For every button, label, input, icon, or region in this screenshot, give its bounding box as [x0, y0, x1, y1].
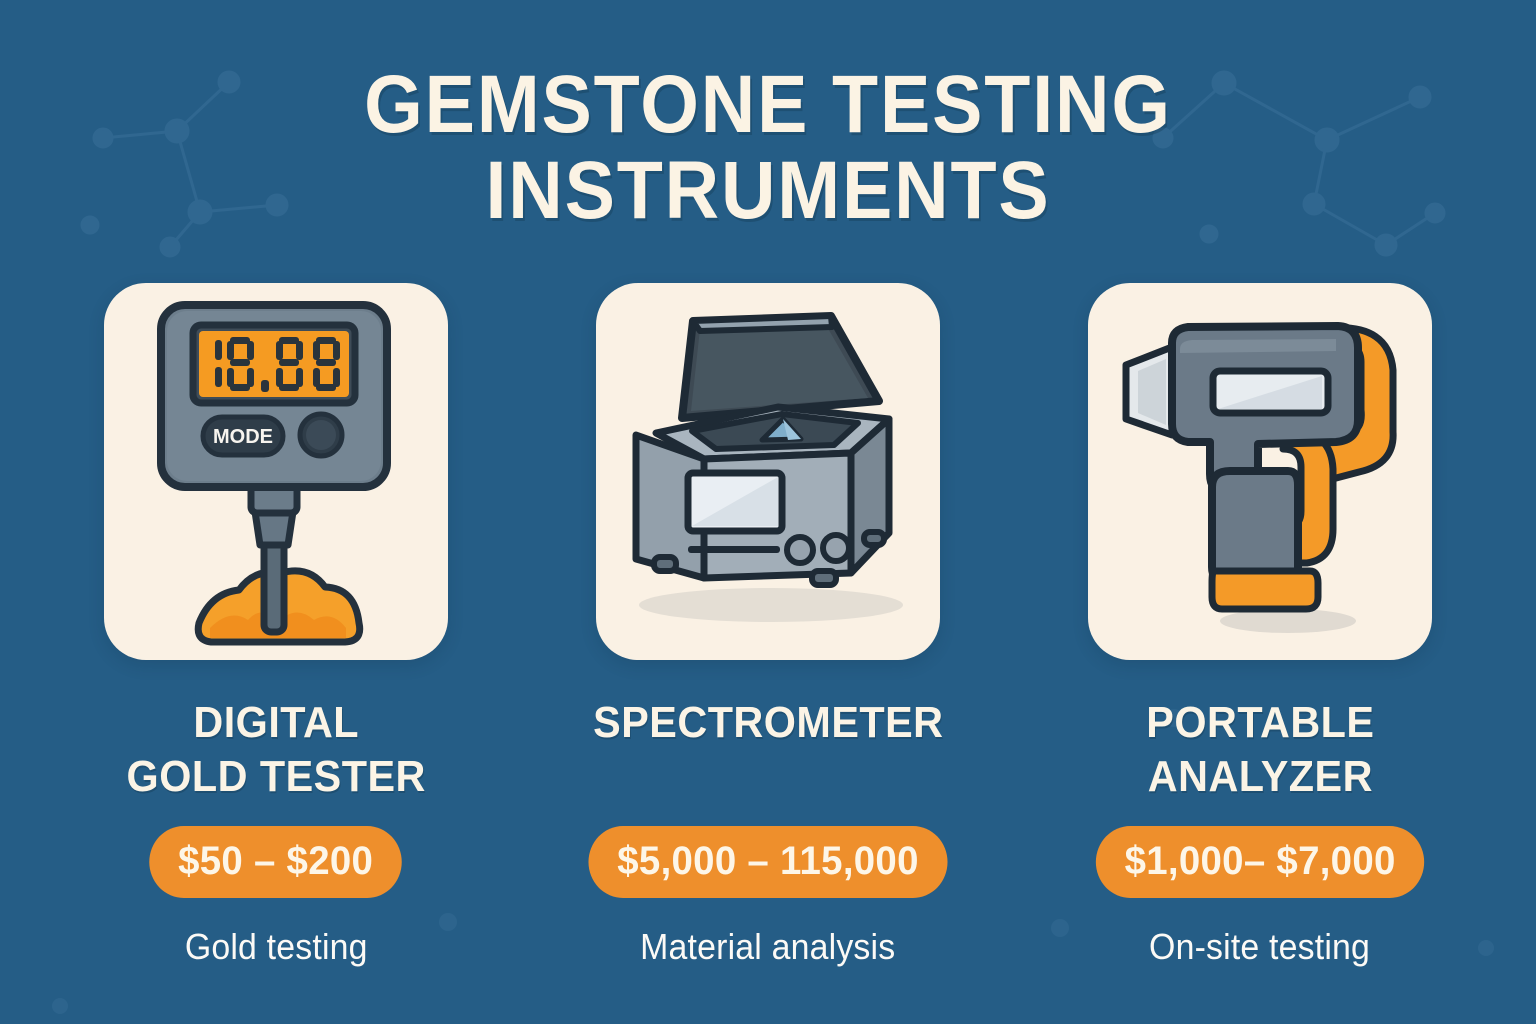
instrument-title: PORTABLE ANALYZER	[1146, 696, 1374, 804]
page-title: GEMSTONE TESTING INSTRUMENTS	[0, 62, 1536, 234]
title-line-2: INSTRUMENTS	[61, 148, 1474, 234]
instrument-card-spectrometer: SPECTROMETER $5,000 – 115,000 Material a…	[580, 283, 956, 968]
instrument-columns: MODE DIGITAL GOLD TESTER $50 – $200 Gold…	[0, 283, 1536, 968]
digital-gold-tester-icon: MODE	[104, 283, 448, 660]
infographic-poster: GEMSTONE TESTING INSTRUMENTS	[0, 0, 1536, 1024]
spectrometer-icon	[596, 283, 940, 660]
price-badge: $1,000– $7,000	[1096, 826, 1425, 898]
illustration-card-spectrometer	[596, 283, 940, 660]
title-line-1: GEMSTONE TESTING	[61, 62, 1474, 148]
illustration-card-gold-tester: MODE	[104, 283, 448, 660]
instrument-title: DIGITAL GOLD TESTER	[126, 696, 425, 804]
portable-xrf-analyzer-icon	[1088, 283, 1432, 660]
instrument-caption: On-site testing	[1149, 926, 1370, 968]
mode-button-label: MODE	[213, 426, 273, 448]
price-badge: $50 – $200	[150, 826, 403, 898]
instrument-caption: Material analysis	[640, 926, 895, 968]
instrument-title: SPECTROMETER	[593, 696, 943, 750]
price-badge: $5,000 – 115,000	[588, 826, 947, 898]
illustration-card-portable-analyzer	[1088, 283, 1432, 660]
instrument-caption: Gold testing	[185, 926, 368, 968]
instrument-card-digital-gold-tester: MODE DIGITAL GOLD TESTER $50 – $200 Gold…	[88, 283, 464, 968]
instrument-card-portable-analyzer: PORTABLE ANALYZER $1,000– $7,000 On-site…	[1072, 283, 1448, 968]
